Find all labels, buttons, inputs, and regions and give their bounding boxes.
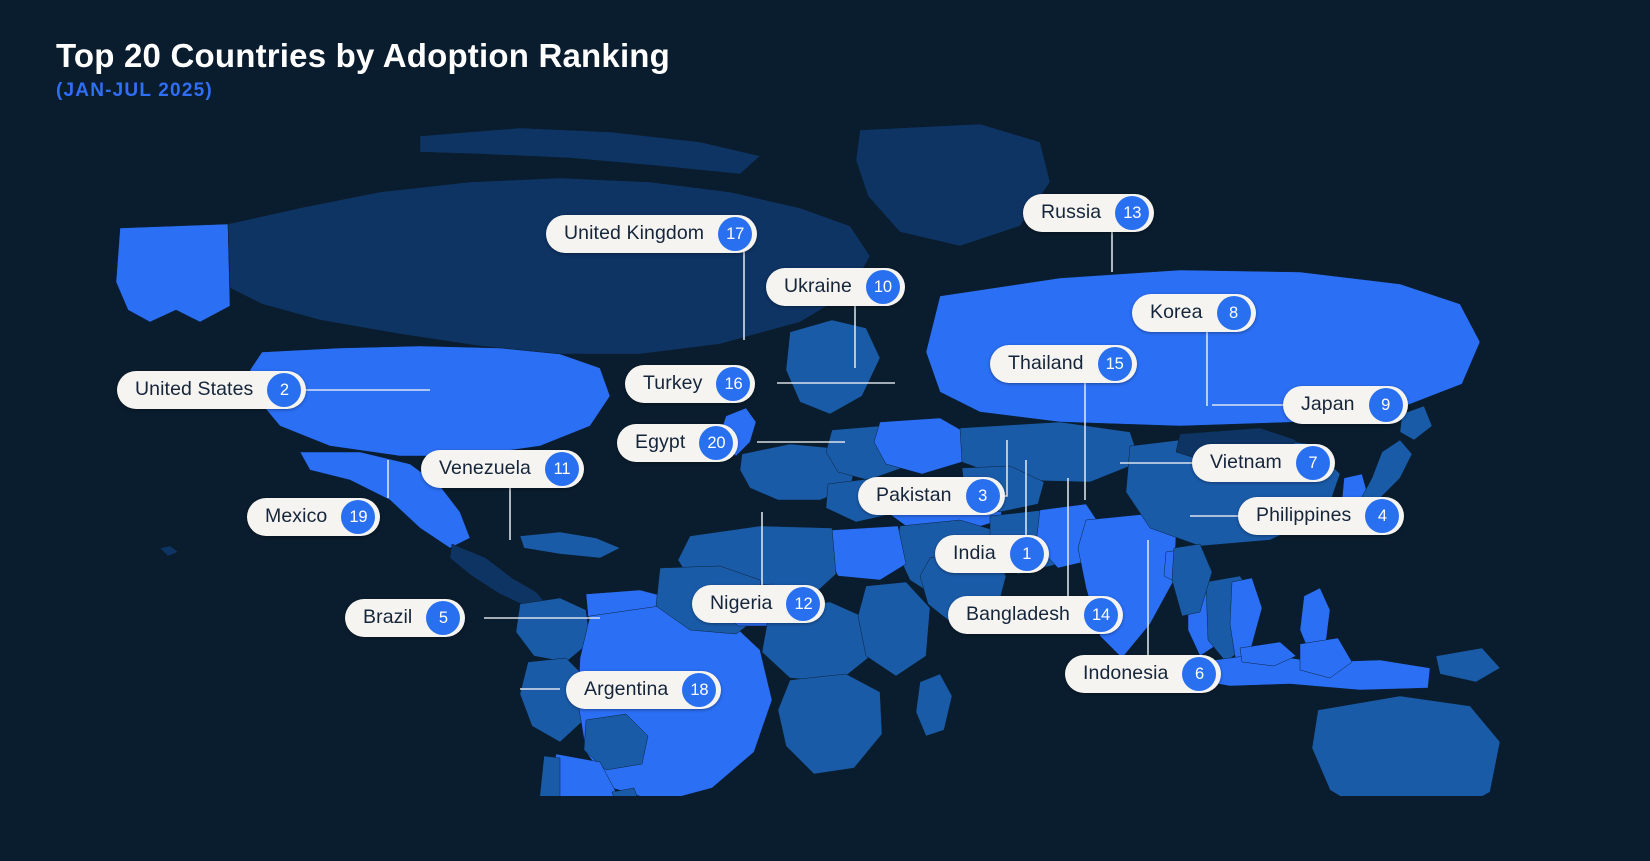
country-label-russia[interactable]: Russia13 <box>1023 194 1154 232</box>
country-label-japan[interactable]: Japan9 <box>1283 386 1408 424</box>
country-label-mexico[interactable]: Mexico19 <box>247 498 380 536</box>
rank-badge: 4 <box>1365 499 1399 533</box>
rank-badge: 16 <box>716 367 750 401</box>
page-title: Top 20 Countries by Adoption Ranking <box>56 38 670 75</box>
country-name: Nigeria <box>710 594 772 614</box>
country-label-united-states[interactable]: United States2 <box>117 371 306 409</box>
country-colombia <box>516 598 590 662</box>
country-label-pakistan[interactable]: Pakistan3 <box>858 477 1005 515</box>
rank-badge: 1 <box>1010 537 1044 571</box>
country-name: Korea <box>1150 303 1203 323</box>
country-label-nigeria[interactable]: Nigeria12 <box>692 585 825 623</box>
country-name: Turkey <box>643 374 702 394</box>
country-name: Venezuela <box>439 459 531 479</box>
country-name: Brazil <box>363 608 412 628</box>
country-madagascar <box>916 674 952 736</box>
rank-badge: 15 <box>1098 347 1132 381</box>
country-label-thailand[interactable]: Thailand15 <box>990 345 1137 383</box>
country-label-indonesia[interactable]: Indonesia6 <box>1065 655 1221 693</box>
rank-badge: 19 <box>341 500 375 534</box>
country-name: India <box>953 544 996 564</box>
country-india <box>1078 514 1176 658</box>
country-name: Bangladesh <box>966 605 1070 625</box>
country-name: United States <box>135 380 253 400</box>
country-alaska <box>116 224 230 322</box>
country-name: Mexico <box>265 507 327 527</box>
country-label-philippines[interactable]: Philippines4 <box>1238 497 1404 535</box>
country-label-egypt[interactable]: Egypt20 <box>617 424 738 462</box>
country-name: Ukraine <box>784 277 852 297</box>
infographic-canvas: Top 20 Countries by Adoption Ranking (JA… <box>0 0 1650 861</box>
country-label-ukraine[interactable]: Ukraine10 <box>766 268 905 306</box>
rank-badge: 20 <box>699 426 733 460</box>
rank-badge: 2 <box>267 373 301 407</box>
rank-badge: 10 <box>866 270 900 304</box>
country-label-india[interactable]: India1 <box>935 535 1049 573</box>
page-subtitle: (JAN-JUL 2025) <box>56 80 670 102</box>
rank-badge: 12 <box>786 587 820 621</box>
rank-badge: 13 <box>1115 196 1149 230</box>
rank-badge: 8 <box>1217 296 1251 330</box>
rank-badge: 17 <box>718 217 752 251</box>
country-name: Egypt <box>635 433 685 453</box>
country-name: Japan <box>1301 395 1355 415</box>
country-label-united-kingdom[interactable]: United Kingdom17 <box>546 215 757 253</box>
country-australia <box>1312 696 1500 796</box>
hawaii <box>160 546 178 556</box>
country-name: Indonesia <box>1083 664 1168 684</box>
papua-new-guinea <box>1436 648 1500 682</box>
east-africa <box>858 582 930 676</box>
world-map-graphic <box>0 96 1650 796</box>
country-canada <box>228 178 870 354</box>
rank-badge: 11 <box>545 452 579 486</box>
country-greenland <box>856 124 1050 246</box>
title-block: Top 20 Countries by Adoption Ranking (JA… <box>56 38 670 102</box>
rank-badge: 14 <box>1084 598 1118 632</box>
country-label-venezuela[interactable]: Venezuela11 <box>421 450 584 488</box>
country-name: Thailand <box>1008 354 1084 374</box>
rank-badge: 6 <box>1182 657 1216 691</box>
country-name: Vietnam <box>1210 453 1282 473</box>
rank-badge: 18 <box>682 673 716 707</box>
arctic-islands <box>420 128 760 174</box>
world-map-container <box>0 96 1650 796</box>
country-label-vietnam[interactable]: Vietnam7 <box>1192 444 1335 482</box>
country-label-turkey[interactable]: Turkey16 <box>625 365 755 403</box>
country-label-bangladesh[interactable]: Bangladesh14 <box>948 596 1123 634</box>
country-label-brazil[interactable]: Brazil5 <box>345 599 465 637</box>
country-name: United Kingdom <box>564 224 704 244</box>
country-united-states <box>250 346 610 456</box>
country-scandinavia <box>786 320 880 414</box>
country-name: Russia <box>1041 203 1101 223</box>
country-chile <box>536 756 560 796</box>
central-america <box>450 544 548 608</box>
caribbean-islands <box>520 532 620 558</box>
rank-badge: 9 <box>1369 388 1403 422</box>
southern-africa <box>778 674 882 774</box>
country-label-argentina[interactable]: Argentina18 <box>566 671 721 709</box>
rank-badge: 5 <box>426 601 460 635</box>
country-name: Pakistan <box>876 486 952 506</box>
rank-badge: 3 <box>966 479 1000 513</box>
country-name: Philippines <box>1256 506 1351 526</box>
rank-badge: 7 <box>1296 446 1330 480</box>
country-label-korea[interactable]: Korea8 <box>1132 294 1256 332</box>
country-egypt <box>826 526 906 580</box>
country-name: Argentina <box>584 680 668 700</box>
